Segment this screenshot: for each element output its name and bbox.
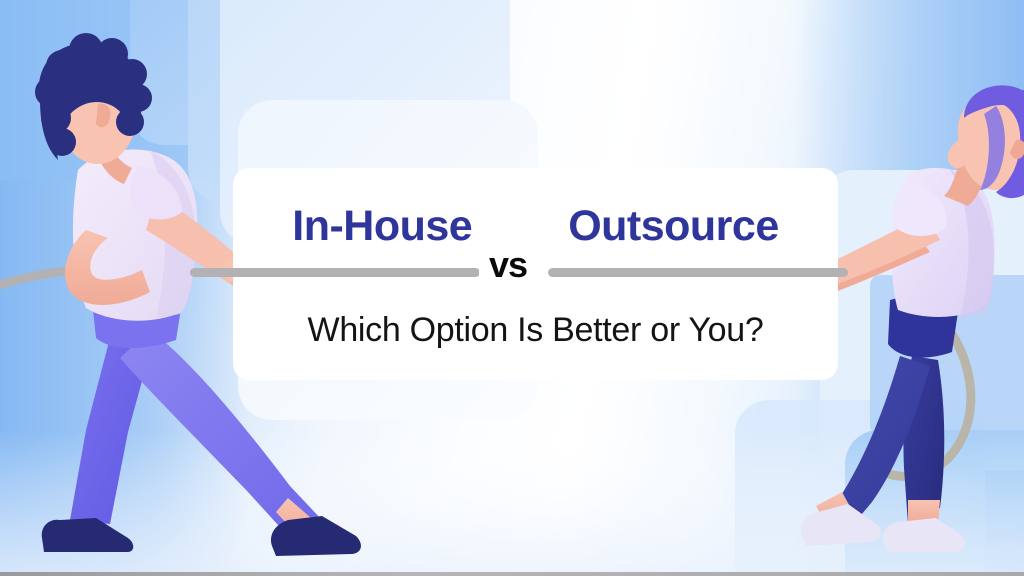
headline: In-House Outsource: [233, 205, 838, 248]
rope-right-segment: [548, 268, 848, 277]
headline-left-term: In-House: [292, 205, 472, 248]
floor-line: [0, 572, 1024, 576]
subtitle: Which Option Is Better or You?: [233, 309, 838, 352]
rope-left-segment: [190, 268, 480, 277]
banner-image: In-House Outsource vs Which Option Is Be…: [0, 0, 1024, 576]
headline-right-term: Outsource: [568, 205, 779, 248]
headline-separator: vs: [479, 247, 537, 283]
